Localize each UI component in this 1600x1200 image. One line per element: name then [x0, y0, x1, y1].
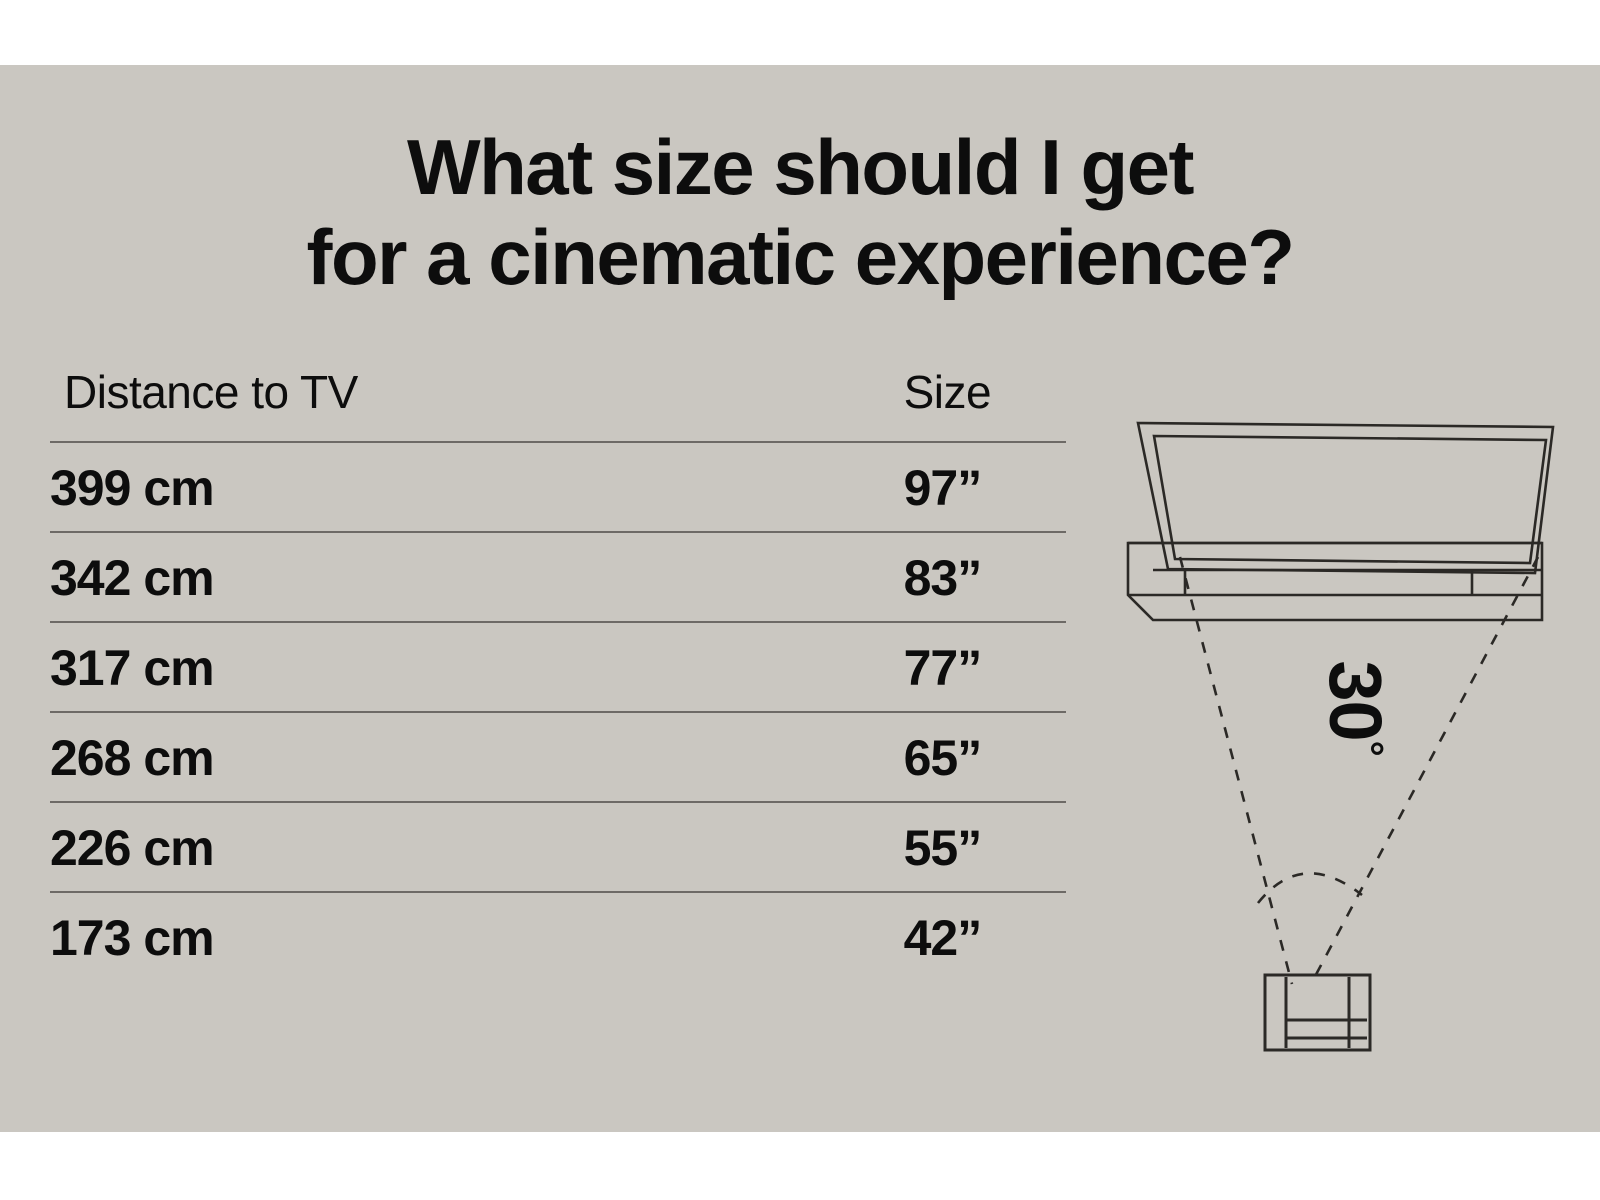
- column-header-distance: Distance to TV: [50, 365, 904, 442]
- page-title: What size should I get for a cinematic e…: [0, 123, 1600, 302]
- table-body: 399 cm 97” 342 cm 83” 317 cm 77” 268 cm …: [50, 442, 1066, 981]
- size-table: Distance to TV Size 399 cm 97” 342 cm 83…: [50, 365, 1066, 981]
- tv-bezel-outer: [1138, 423, 1553, 573]
- cell-distance: 342 cm: [50, 532, 904, 622]
- poster-background: What size should I get for a cinematic e…: [0, 65, 1600, 1132]
- viewing-angle-label: 30°: [1242, 653, 1392, 763]
- cell-size: 97”: [904, 442, 1067, 532]
- cell-size: 55”: [904, 802, 1067, 892]
- cell-distance: 268 cm: [50, 712, 904, 802]
- cell-size: 77”: [904, 622, 1067, 712]
- table-header-row: Distance to TV Size: [50, 365, 1066, 442]
- cell-distance: 173 cm: [50, 892, 904, 981]
- cell-size: 65”: [904, 712, 1067, 802]
- tv-console: [1128, 543, 1542, 620]
- table-header: Distance to TV Size: [50, 365, 1066, 442]
- degree-symbol-icon: °: [1347, 741, 1391, 756]
- column-header-size: Size: [904, 365, 1067, 442]
- console-front-panel: [1128, 543, 1542, 620]
- table-row: 268 cm 65”: [50, 712, 1066, 802]
- table-row: 399 cm 97”: [50, 442, 1066, 532]
- title-line-2: for a cinematic experience?: [0, 213, 1600, 303]
- cell-distance: 226 cm: [50, 802, 904, 892]
- table-row: 317 cm 77”: [50, 622, 1066, 712]
- title-line-1: What size should I get: [0, 123, 1600, 213]
- table-row: 342 cm 83”: [50, 532, 1066, 622]
- angle-value: 30: [1314, 660, 1397, 740]
- table-row: 226 cm 55”: [50, 802, 1066, 892]
- sofa-top-view: [1265, 975, 1370, 1050]
- cell-distance: 399 cm: [50, 442, 904, 532]
- cell-size: 42”: [904, 892, 1067, 981]
- table-row: 173 cm 42”: [50, 892, 1066, 981]
- tv-perspective: [1128, 423, 1553, 620]
- size-table-container: Distance to TV Size 399 cm 97” 342 cm 83…: [50, 365, 1045, 981]
- poster-canvas: What size should I get for a cinematic e…: [0, 0, 1600, 1200]
- cell-size: 83”: [904, 532, 1067, 622]
- angle-arc: [1258, 873, 1362, 903]
- cell-distance: 317 cm: [50, 622, 904, 712]
